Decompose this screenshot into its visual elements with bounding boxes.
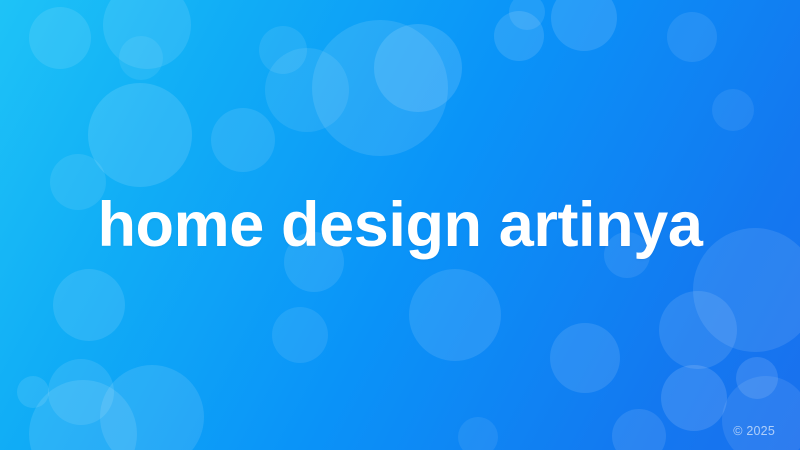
copyright-notice: © 2025 [733,424,775,438]
og-banner-card: home design artinya © 2025 [0,0,800,450]
page-title: home design artinya [97,190,702,261]
card-content: home design artinya [0,0,800,450]
